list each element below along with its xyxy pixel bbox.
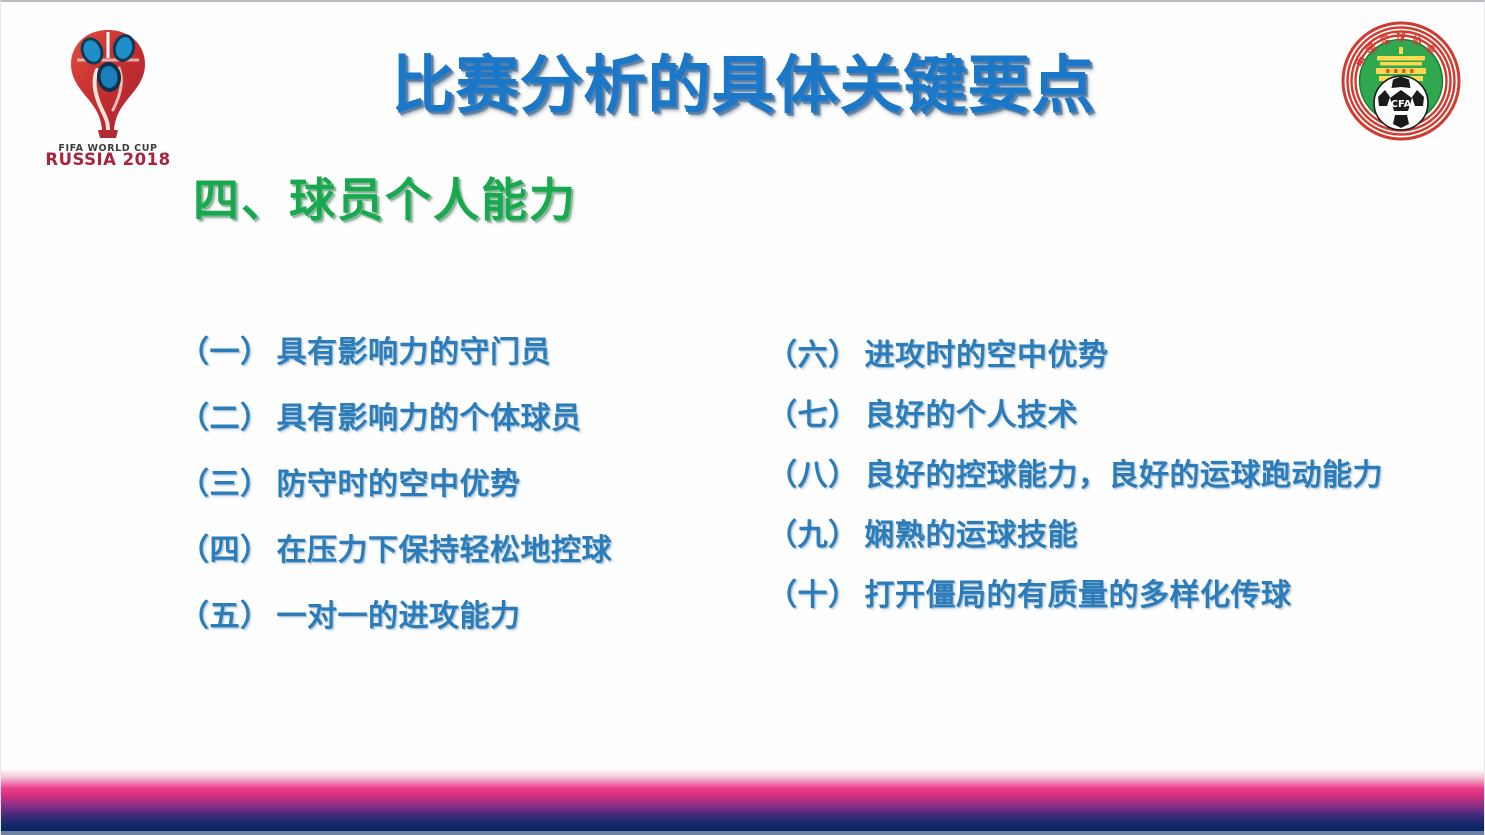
footer-edge-line (1, 831, 1485, 835)
page-title: 比赛分析的具体关键要点 (1, 54, 1485, 117)
list-item: （十）打开僵局的有质量的多样化传球 (767, 566, 1383, 626)
list-item-label: 一对一的进攻能力 (277, 599, 521, 634)
list-item: （一）具有影响力的守门员 (179, 320, 612, 386)
list-item: （七）良好的个人技术 (767, 386, 1383, 446)
list-item: （八）良好的控球能力，良好的运球跑动能力 (767, 446, 1383, 506)
list-item-marker: （五） (179, 599, 271, 634)
list-item-label: 进攻时的空中优势 (865, 338, 1109, 373)
fifa-logo-line2: RUSSIA 2018 (45, 150, 170, 166)
bullet-column-right: （六）进攻时的空中优势 （七）良好的个人技术 （八）良好的控球能力，良好的运球跑… (767, 326, 1383, 626)
list-item: （九）娴熟的运球技能 (767, 506, 1383, 566)
list-item-marker: （一） (179, 335, 271, 370)
list-item-label: 良好的个人技术 (865, 398, 1079, 433)
list-item-label: 具有影响力的个体球员 (277, 401, 582, 436)
list-item-label: 防守时的空中优势 (277, 467, 521, 502)
presentation-slide: FIFA WORLD CUP RUSSIA 2018 (0, 0, 1485, 835)
list-item-marker: （八） (767, 458, 859, 493)
list-item-label: 打开僵局的有质量的多样化传球 (865, 578, 1292, 613)
list-item-label: 在压力下保持轻松地控球 (277, 533, 613, 568)
list-item: （五）一对一的进攻能力 (179, 584, 612, 650)
list-item-label: 娴熟的运球技能 (865, 518, 1079, 553)
list-item: （四）在压力下保持轻松地控球 (179, 518, 612, 584)
list-item-marker: （九） (767, 518, 859, 553)
list-item-marker: （三） (179, 467, 271, 502)
list-item-marker: （四） (179, 533, 271, 568)
list-item-marker: （七） (767, 398, 859, 433)
list-item-marker: （十） (767, 578, 859, 613)
list-item: （六）进攻时的空中优势 (767, 326, 1383, 386)
list-item: （二）具有影响力的个体球员 (179, 386, 612, 452)
bullet-column-left: （一）具有影响力的守门员 （二）具有影响力的个体球员 （三）防守时的空中优势 （… (179, 320, 612, 650)
bullet-list-area: （一）具有影响力的守门员 （二）具有影响力的个体球员 （三）防守时的空中优势 （… (1, 320, 1485, 660)
list-item-marker: （二） (179, 401, 271, 436)
footer-gradient-bar (1, 757, 1485, 835)
list-item: （三）防守时的空中优势 (179, 452, 612, 518)
section-heading: 四、球员个人能力 (193, 177, 577, 223)
list-item-marker: （六） (767, 338, 859, 373)
list-item-label: 良好的控球能力，良好的运球跑动能力 (865, 458, 1384, 493)
list-item-label: 具有影响力的守门员 (277, 335, 552, 370)
